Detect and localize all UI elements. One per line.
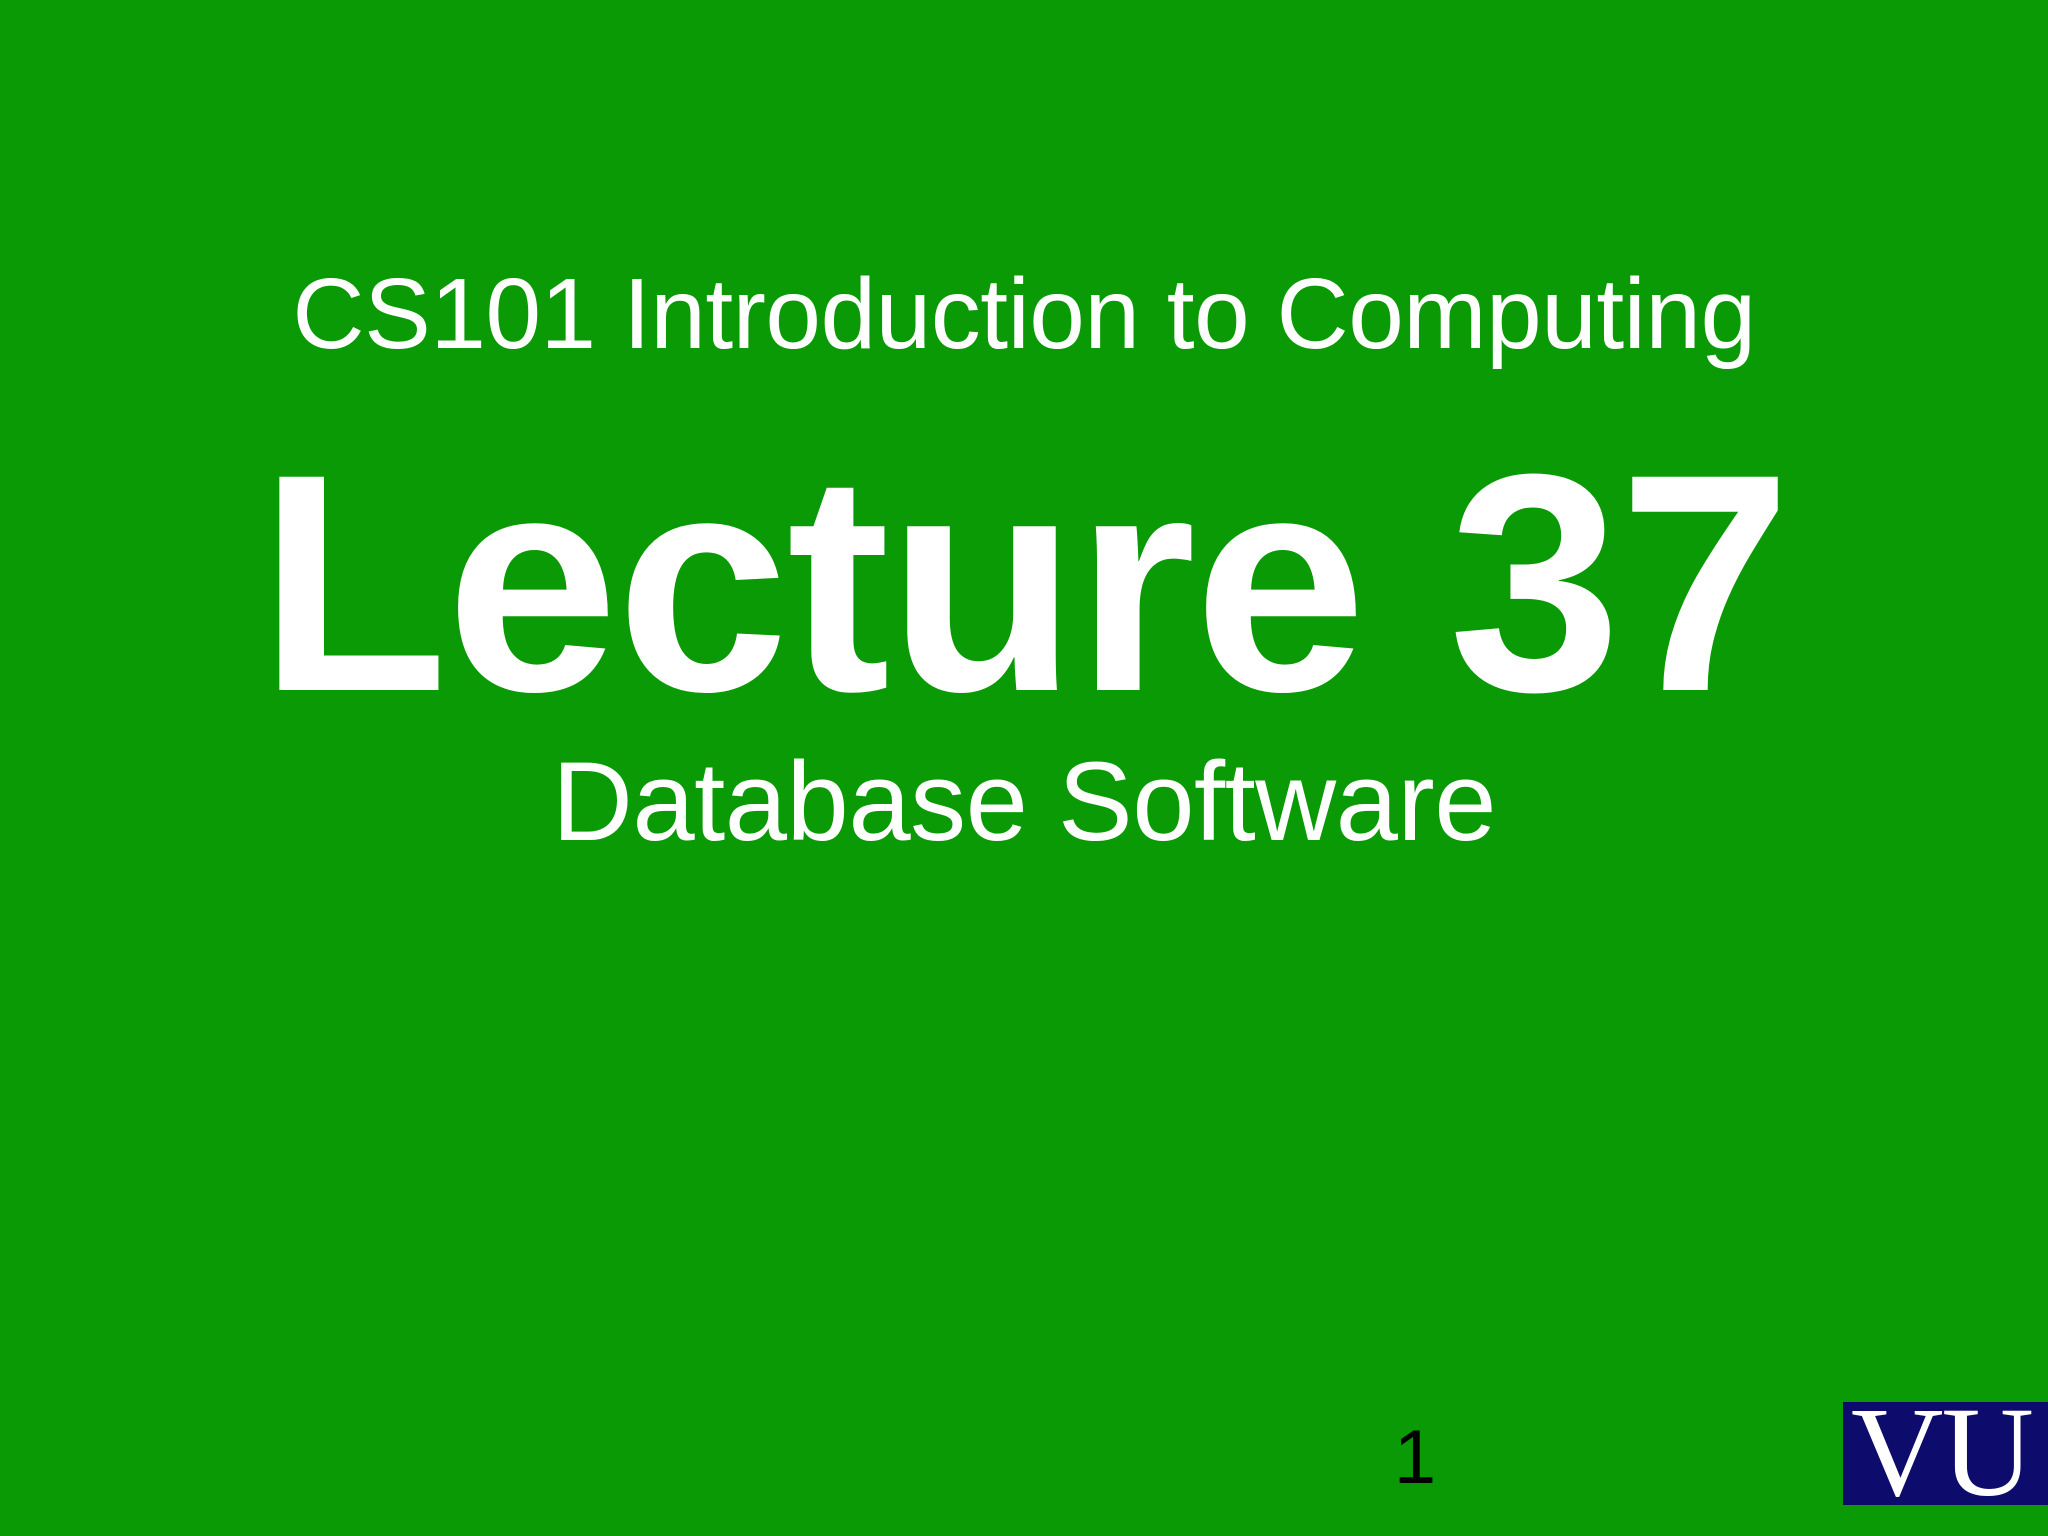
- course-title: CS101 Introduction to Computing: [40, 258, 2008, 370]
- vu-logo-text: VU: [1851, 1402, 2032, 1505]
- presentation-slide: CS101 Introduction to Computing Lecture …: [0, 0, 2048, 1536]
- slide-title-block: CS101 Introduction to Computing Lecture …: [0, 0, 2048, 1200]
- lecture-subtitle: Database Software: [40, 740, 2008, 864]
- vu-logo: VU: [1843, 1402, 2048, 1505]
- lecture-number-heading: Lecture 37: [40, 418, 2008, 748]
- slide-number: 1: [1380, 1418, 1450, 1498]
